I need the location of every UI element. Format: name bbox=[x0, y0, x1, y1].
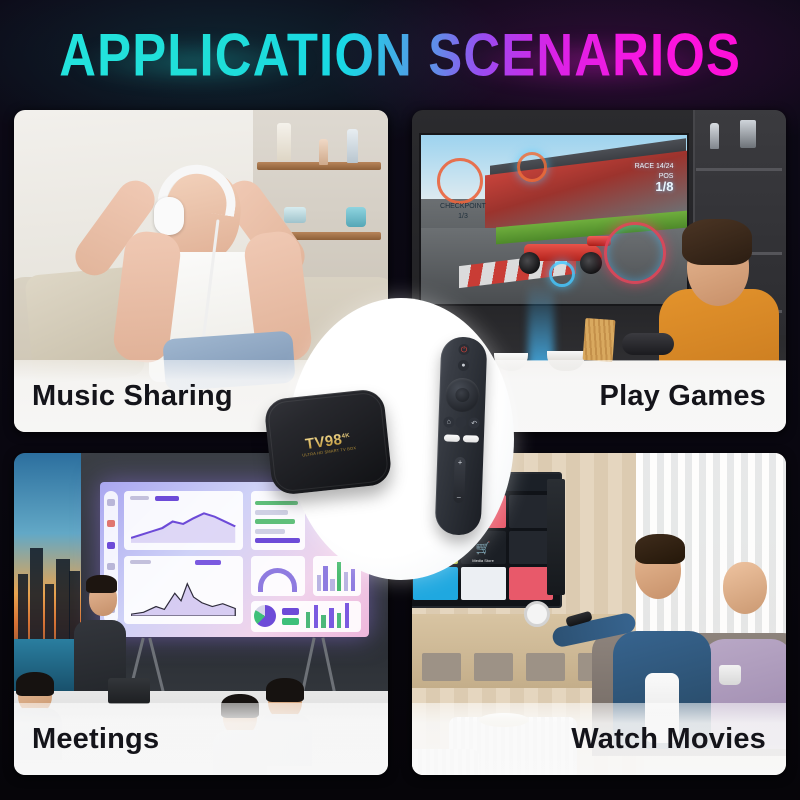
gamer-hair bbox=[682, 219, 752, 265]
list-row bbox=[255, 538, 300, 543]
cabinet-slot bbox=[526, 653, 565, 681]
city-building bbox=[45, 584, 54, 639]
headphones-earcup-icon bbox=[154, 197, 184, 235]
game-controller bbox=[622, 333, 674, 355]
tv-soundbar bbox=[547, 479, 566, 595]
hud-checkpoint: CHECKPOINT 1/3 bbox=[440, 202, 486, 222]
car-tyre bbox=[519, 252, 541, 274]
hud-checkpoint-label: CHECKPOINT bbox=[440, 202, 486, 212]
dashboard-donut-card bbox=[251, 601, 361, 632]
bar bbox=[323, 566, 327, 591]
bar bbox=[306, 612, 310, 628]
home-button[interactable]: ⌂ bbox=[443, 416, 454, 427]
gauge-icon bbox=[258, 568, 297, 592]
presenter-hair bbox=[86, 575, 117, 593]
decor-bottle bbox=[346, 207, 366, 227]
bar bbox=[317, 575, 321, 591]
hud-ring-icon bbox=[517, 152, 547, 182]
list-row bbox=[255, 501, 298, 506]
sidebar-icon bbox=[107, 563, 115, 570]
coffee-mug bbox=[719, 665, 741, 685]
remote-nav-row: ⌂ ↶ bbox=[438, 416, 484, 429]
card-title-bar bbox=[130, 560, 151, 564]
cabinet-shelf bbox=[696, 168, 782, 171]
card-badge bbox=[155, 496, 179, 501]
cabinet-slot bbox=[474, 653, 513, 681]
cabinet-decor bbox=[740, 120, 756, 148]
app-shortcut-button[interactable] bbox=[443, 434, 459, 442]
bar bbox=[351, 569, 355, 591]
tv-remote-control[interactable]: ⏻ ● ⌂ ↶ + − bbox=[435, 336, 488, 535]
panel-caption-meetings: Meetings bbox=[32, 723, 159, 756]
donut-chart-icon bbox=[254, 605, 276, 627]
dpad-center-button[interactable] bbox=[455, 388, 469, 402]
city-building bbox=[30, 548, 43, 638]
sidebar-icon bbox=[107, 499, 115, 506]
cart-icon: 🛒 bbox=[476, 541, 491, 555]
bar bbox=[344, 572, 348, 590]
dashboard-gauge-card bbox=[251, 556, 305, 596]
page-title-container: APPLICATION SCENARIOS bbox=[0, 22, 800, 82]
dashboard-chart-card bbox=[124, 491, 242, 550]
volume-rocker[interactable]: + − bbox=[453, 457, 466, 503]
back-button[interactable]: ↶ bbox=[468, 417, 479, 428]
bar bbox=[329, 608, 333, 628]
metric-chip bbox=[282, 618, 300, 625]
bar bbox=[321, 615, 325, 627]
decor-bottle bbox=[284, 207, 306, 223]
tile-label-media-store: Media Store bbox=[461, 558, 506, 563]
mic-button[interactable] bbox=[456, 417, 467, 428]
list-row bbox=[255, 510, 288, 515]
decor-bottle bbox=[277, 123, 291, 161]
dashboard-chart-card bbox=[124, 556, 242, 624]
city-building bbox=[18, 574, 28, 639]
list-row bbox=[255, 519, 295, 524]
attendee-hair bbox=[266, 678, 304, 702]
window-city-view bbox=[14, 453, 81, 704]
volume-up-icon: + bbox=[458, 458, 463, 467]
area-chart-icon bbox=[131, 578, 235, 616]
line-chart-icon bbox=[131, 510, 235, 543]
metric-chip bbox=[282, 608, 300, 615]
page-title: APPLICATION SCENARIOS bbox=[59, 22, 741, 90]
panel-caption-play-games: Play Games bbox=[600, 380, 766, 413]
bar bbox=[314, 605, 318, 627]
decor-bottle bbox=[319, 139, 328, 165]
hud-speedometer-icon bbox=[604, 222, 666, 284]
card-title-bar bbox=[130, 496, 149, 500]
attendee-laptop bbox=[108, 678, 150, 704]
tv-app-tile[interactable] bbox=[461, 567, 506, 600]
sidebar-icon bbox=[107, 520, 115, 527]
application-scenarios-poster: APPLICATION SCENARIOS bbox=[0, 0, 800, 800]
volume-down-icon: − bbox=[456, 493, 461, 502]
snack-sticks bbox=[583, 318, 616, 362]
bar bbox=[345, 603, 349, 627]
man-hair bbox=[635, 534, 685, 564]
bar bbox=[337, 562, 341, 591]
brand-superscript: 4K bbox=[341, 433, 350, 440]
panel-caption-bar: Meetings bbox=[14, 703, 388, 775]
sidebar-icon bbox=[107, 542, 115, 549]
tv-box-product: TV984K ULTRA HD SMART TV BOX bbox=[263, 388, 392, 496]
bar bbox=[337, 613, 341, 628]
hud-pos-value: 1/8 bbox=[635, 182, 674, 192]
car-tyre bbox=[580, 252, 602, 274]
cabinet-decor bbox=[710, 123, 719, 149]
panel-caption-music-sharing: Music Sharing bbox=[32, 380, 233, 413]
dashboard-list-card bbox=[251, 491, 305, 550]
app-shortcut-button[interactable] bbox=[462, 435, 478, 443]
list-row bbox=[255, 529, 285, 534]
city-building bbox=[56, 559, 70, 639]
bar bbox=[330, 579, 334, 591]
projector-screen: RACE 14/24 POS 1/8 CHECKPOINT 1/3 bbox=[419, 133, 688, 307]
hud-race-label: RACE 14/24 bbox=[635, 162, 674, 172]
cabinet-slot bbox=[422, 653, 461, 681]
decor-bottle bbox=[347, 129, 358, 163]
panel-caption-bar: Watch Movies bbox=[412, 703, 786, 775]
hud-checkpoint-value: 1/3 bbox=[440, 212, 486, 222]
card-value-badge bbox=[195, 560, 221, 565]
attendee-hair bbox=[16, 672, 54, 696]
hud-readout: RACE 14/24 POS 1/8 bbox=[635, 162, 674, 192]
panel-caption-watch-movies: Watch Movies bbox=[571, 723, 766, 756]
